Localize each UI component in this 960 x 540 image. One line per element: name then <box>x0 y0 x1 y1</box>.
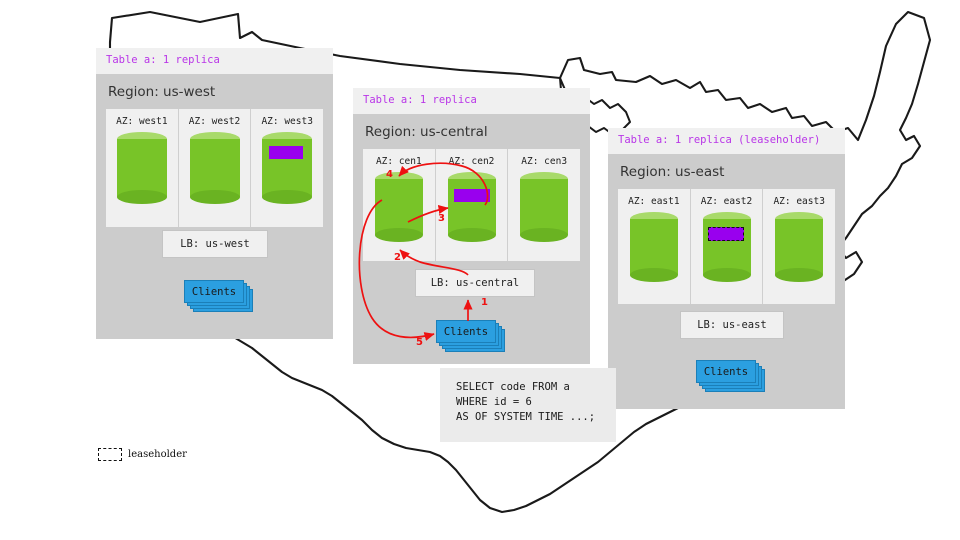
az-cell-cen3[interactable]: AZ: cen3 <box>507 149 580 261</box>
cylinder-bottom <box>775 268 823 282</box>
node-cylinder-west2[interactable] <box>190 132 240 204</box>
load-balancer-us-east[interactable]: LB: us-east <box>680 311 784 339</box>
clients-front-us-west[interactable]: Clients <box>184 280 244 303</box>
table-header-us-central: Table a: 1 replica <box>353 88 590 114</box>
replica-block-cen2[interactable] <box>454 189 490 202</box>
node-cylinder-cen1[interactable] <box>375 172 423 242</box>
cylinder-bottom <box>448 228 496 242</box>
az-cell-west2[interactable]: AZ: west2 <box>178 109 251 227</box>
az-label-cen1: AZ: cen1 <box>363 156 435 167</box>
load-balancer-us-west[interactable]: LB: us-west <box>162 230 268 258</box>
az-row-us-west: AZ: west1 AZ: west2 AZ <box>106 109 323 227</box>
az-row-us-central: AZ: cen1 AZ: cen2 <box>363 149 580 261</box>
arrow-label-2: 2 <box>394 252 401 263</box>
az-label-cen3: AZ: cen3 <box>508 156 580 167</box>
node-cylinder-east2[interactable] <box>703 212 751 282</box>
lb-label-us-central: LB: us-central <box>431 277 520 289</box>
arrow-label-5: 5 <box>416 337 423 348</box>
load-balancer-us-central[interactable]: LB: us-central <box>415 269 535 297</box>
cylinder-body <box>520 179 568 235</box>
node-cylinder-west3[interactable] <box>262 132 312 204</box>
cylinder-bottom <box>520 228 568 242</box>
az-label-cen2: AZ: cen2 <box>436 156 508 167</box>
diagram-canvas: Table a: 1 replica Region: us-west AZ: w… <box>0 0 960 540</box>
cylinder-body <box>448 179 496 235</box>
region-panel-us-west: Table a: 1 replica Region: us-west AZ: w… <box>96 48 333 348</box>
node-cylinder-west1[interactable] <box>117 132 167 204</box>
region-title-us-east: Region: us-east <box>608 154 845 189</box>
cylinder-body <box>775 219 823 275</box>
cylinder-bottom <box>630 268 678 282</box>
node-cylinder-cen2[interactable] <box>448 172 496 242</box>
node-cylinder-east1[interactable] <box>630 212 678 282</box>
clients-label-us-central: Clients <box>444 326 488 338</box>
az-cell-east2[interactable]: AZ: east2 <box>690 189 763 304</box>
az-cell-east3[interactable]: AZ: east3 <box>762 189 835 304</box>
az-label-east2: AZ: east2 <box>691 196 763 207</box>
region-title-us-west: Region: us-west <box>96 74 333 109</box>
clients-label-us-west: Clients <box>192 286 236 298</box>
az-cell-east1[interactable]: AZ: east1 <box>618 189 690 304</box>
clients-us-east[interactable]: Clients <box>696 360 766 392</box>
arrow-label-4: 4 <box>386 169 393 180</box>
sql-query-box: SELECT code FROM a WHERE id = 6 AS OF SY… <box>440 368 616 442</box>
az-cell-west1[interactable]: AZ: west1 <box>106 109 178 227</box>
az-label-east1: AZ: east1 <box>618 196 690 207</box>
cylinder-bottom <box>190 190 240 204</box>
region-panel-us-east: Table a: 1 replica (leaseholder) Region:… <box>608 128 845 418</box>
table-header-us-west: Table a: 1 replica <box>96 48 333 74</box>
az-cell-west3[interactable]: AZ: west3 <box>250 109 323 227</box>
cylinder-body <box>117 139 167 197</box>
cylinder-body <box>375 179 423 235</box>
legend: leaseholder <box>98 448 187 461</box>
lb-label-us-west: LB: us-west <box>180 238 250 250</box>
arrow-label-1: 1 <box>481 297 488 308</box>
clients-us-west[interactable]: Clients <box>184 280 248 312</box>
replica-block-east2-leaseholder[interactable] <box>708 227 744 241</box>
cylinder-body <box>190 139 240 197</box>
region-title-us-central: Region: us-central <box>353 114 590 149</box>
cylinder-bottom <box>703 268 751 282</box>
clients-label-us-east: Clients <box>704 366 748 378</box>
az-cell-cen1[interactable]: AZ: cen1 <box>363 149 435 261</box>
cylinder-bottom <box>262 190 312 204</box>
region-panel-us-central: Table a: 1 replica Region: us-central AZ… <box>353 88 590 373</box>
cylinder-bottom <box>117 190 167 204</box>
az-label-east3: AZ: east3 <box>763 196 835 207</box>
az-row-us-east: AZ: east1 AZ: east2 <box>618 189 835 304</box>
az-label-west2: AZ: west2 <box>179 116 251 127</box>
lb-label-us-east: LB: us-east <box>697 319 767 331</box>
clients-front-us-east[interactable]: Clients <box>696 360 756 383</box>
arrow-label-3: 3 <box>438 213 445 224</box>
table-header-us-east: Table a: 1 replica (leaseholder) <box>608 128 845 154</box>
az-label-west1: AZ: west1 <box>106 116 178 127</box>
legend-label: leaseholder <box>128 449 187 460</box>
az-label-west3: AZ: west3 <box>251 116 323 127</box>
dashed-rect-icon <box>98 448 122 461</box>
replica-block-west3[interactable] <box>269 146 303 159</box>
node-cylinder-east3[interactable] <box>775 212 823 282</box>
az-cell-cen2[interactable]: AZ: cen2 <box>435 149 508 261</box>
clients-us-central[interactable]: Clients <box>436 320 506 352</box>
clients-front-us-central[interactable]: Clients <box>436 320 496 343</box>
node-cylinder-cen3[interactable] <box>520 172 568 242</box>
cylinder-body <box>630 219 678 275</box>
cylinder-bottom <box>375 228 423 242</box>
